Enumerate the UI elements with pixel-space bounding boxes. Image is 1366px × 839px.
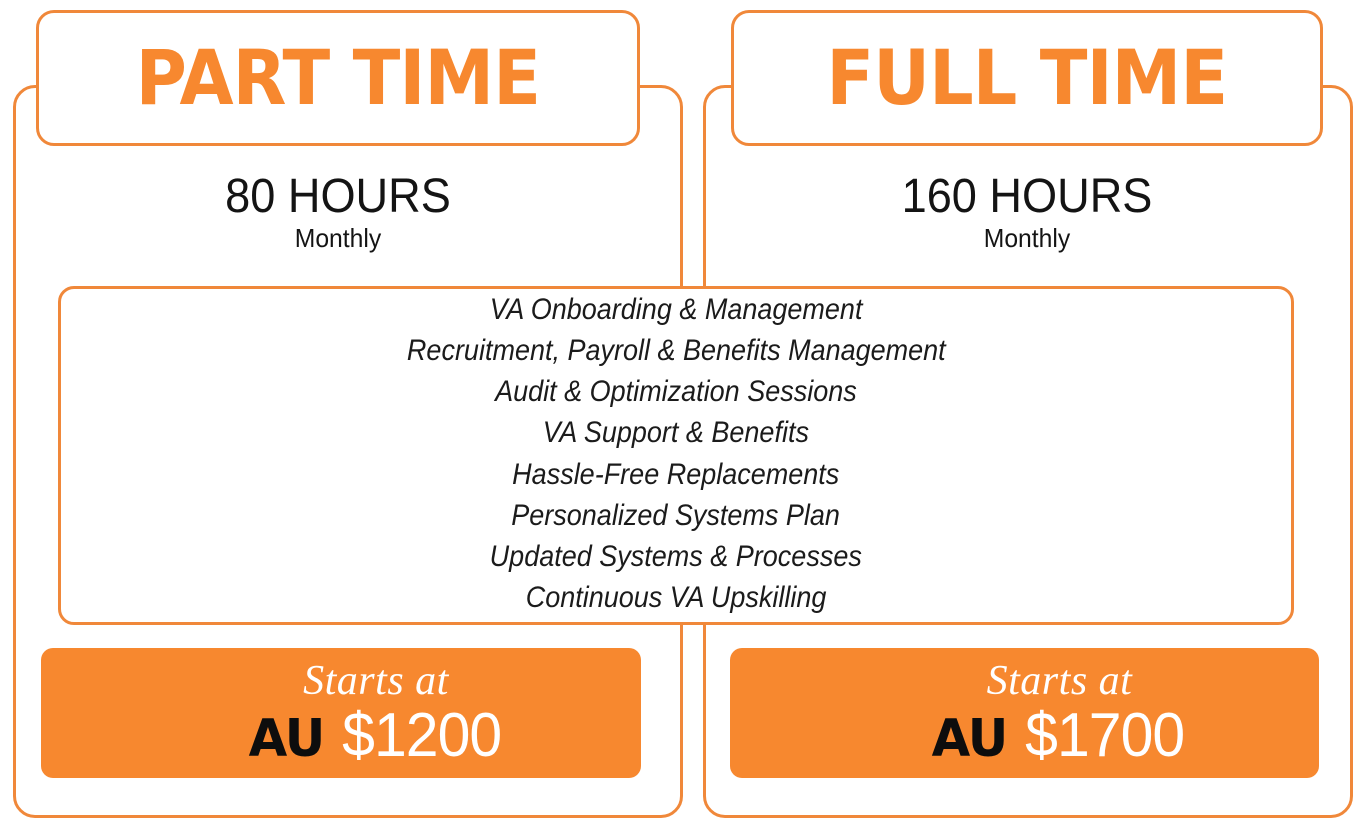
price-value-part-time: $1200 — [342, 705, 501, 767]
pricing-comparison-graphic: PART TIME FULL TIME 80 HOURS Monthly 160… — [0, 0, 1366, 839]
feature-item: Personalized Systems Plan — [512, 495, 841, 536]
feature-item: Continuous VA Upskilling — [526, 577, 827, 618]
hours-period-part-time: Monthly — [51, 224, 625, 254]
price-button-part-time[interactable]: Starts at AU $1200 — [41, 648, 641, 778]
feature-item: VA Support & Benefits — [543, 412, 809, 453]
feature-item: Audit & Optimization Sessions — [495, 371, 857, 412]
price-button-full-time[interactable]: Starts at AU $1700 — [730, 648, 1319, 778]
plan-header-full-time: FULL TIME — [731, 10, 1323, 146]
hours-period-full-time: Monthly — [746, 224, 1308, 254]
price-currency-full-time: AU — [932, 713, 1008, 765]
plan-title-part-time: PART TIME — [136, 40, 540, 116]
price-amount-part-time: AU $1200 — [247, 705, 505, 767]
feature-item: Hassle-Free Replacements — [512, 454, 839, 495]
price-currency-part-time: AU — [248, 713, 324, 765]
price-prefix-part-time: Starts at — [303, 659, 449, 703]
hours-value-part-time: 80 HOURS — [54, 172, 622, 222]
price-value-full-time: $1700 — [1025, 705, 1184, 767]
price-amount-full-time: AU $1700 — [930, 705, 1188, 767]
plan-title-full-time: FULL TIME — [827, 40, 1228, 116]
hours-block-part-time: 80 HOURS Monthly — [36, 172, 640, 254]
features-panel: VA Onboarding & Management Recruitment, … — [58, 286, 1294, 625]
feature-item: Recruitment, Payroll & Benefits Manageme… — [407, 330, 946, 371]
plan-header-part-time: PART TIME — [36, 10, 640, 146]
hours-value-full-time: 160 HOURS — [749, 172, 1305, 222]
price-prefix-full-time: Starts at — [987, 659, 1133, 703]
feature-item: VA Onboarding & Management — [490, 289, 863, 330]
hours-block-full-time: 160 HOURS Monthly — [731, 172, 1323, 254]
feature-item: Updated Systems & Processes — [490, 536, 862, 577]
